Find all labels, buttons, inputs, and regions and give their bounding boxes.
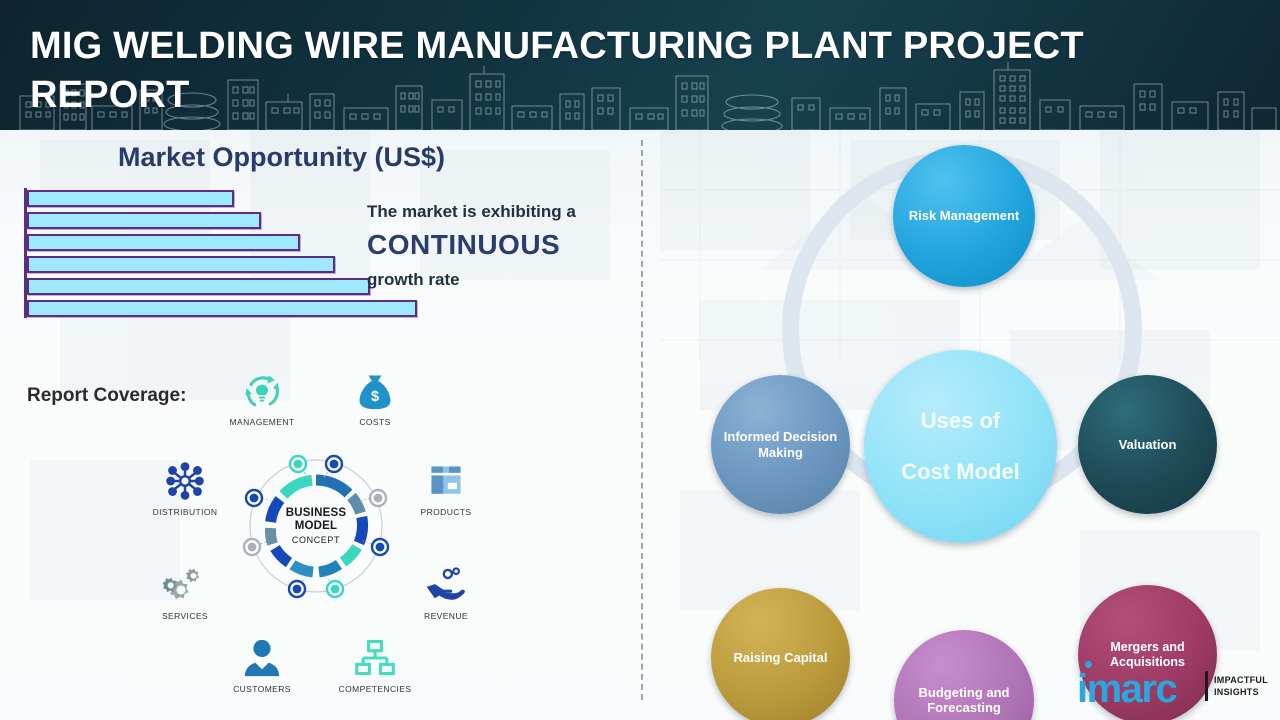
node-label-risk-management: Risk Management <box>903 208 1026 223</box>
chart-bar-3 <box>27 234 300 251</box>
coverage-item-costs: $ COSTS <box>323 368 427 427</box>
market-opportunity-title: Market Opportunity (US$) <box>118 142 445 173</box>
page-title: MIG Welding Wire Manufacturing Plant Pro… <box>30 22 1190 119</box>
recycle-lightbulb-icon <box>210 368 314 414</box>
svg-text:$: $ <box>371 389 379 405</box>
network-nodes-icon <box>133 458 237 504</box>
coverage-item-management: MANAGEMENT <box>210 368 314 427</box>
coverage-label-competencies: COMPETENCIES <box>323 684 427 694</box>
coverage-label-management: MANAGEMENT <box>210 417 314 427</box>
gears-icon <box>133 562 237 608</box>
logo-wordmark: imarc <box>1077 669 1176 709</box>
center-label-line1: Uses of <box>895 408 1026 434</box>
node-risk-management[interactable]: Risk Management <box>893 145 1035 287</box>
coverage-label-costs: COSTS <box>323 417 427 427</box>
left-panel: Market Opportunity (US$) The market is e… <box>0 130 641 720</box>
coverage-label-products: PRODUCTS <box>394 507 498 517</box>
money-bag-icon: $ <box>323 368 427 414</box>
coverage-item-distribution: DISTRIBUTION <box>133 458 237 517</box>
chart-bar-2 <box>27 212 261 229</box>
logo-tagline-line2: INSIGHTS <box>1214 687 1259 697</box>
coverage-item-products: PRODUCTS <box>394 458 498 517</box>
coverage-item-customers: CUSTOMERS <box>210 635 314 694</box>
slide-canvas: MIG Welding Wire Manufacturing Plant Pro… <box>0 0 1280 720</box>
node-label-raising-capital: Raising Capital <box>728 650 834 665</box>
report-coverage-label: Report Coverage: <box>27 385 186 407</box>
node-label-valuation: Valuation <box>1113 437 1183 452</box>
imarc-logo[interactable]: imarc IMPACTFUL INSIGHTS <box>1077 661 1273 709</box>
coverage-item-services: SERVICES <box>133 562 237 621</box>
right-panel: Uses of Cost Model Risk Management Valua… <box>641 130 1280 720</box>
person-user-icon <box>210 635 314 681</box>
node-label-budgeting-and-forecasting: Budgeting and Forecasting <box>894 685 1034 716</box>
growth-blurb: The market is exhibiting a CONTINUOUS gr… <box>367 202 637 291</box>
coverage-label-services: SERVICES <box>133 611 237 621</box>
org-chart-icon <box>323 635 427 681</box>
logo-tagline: IMPACTFUL INSIGHTS <box>1214 674 1268 698</box>
node-label-informed-decision-making: Informed Decision Making <box>711 429 850 460</box>
hand-coins-icon <box>394 562 498 608</box>
node-valuation[interactable]: Valuation <box>1078 375 1217 514</box>
chart-bar-5 <box>27 278 370 295</box>
box-package-icon <box>394 458 498 504</box>
chart-bar-4 <box>27 256 335 273</box>
chart-bar-6 <box>27 300 417 317</box>
chart-bar-1 <box>27 190 234 207</box>
node-informed-decision-making[interactable]: Informed Decision Making <box>711 375 850 514</box>
business-model-wheel: BUSINESS MODEL CONCEPT <box>240 450 392 602</box>
coverage-label-distribution: DISTRIBUTION <box>133 507 237 517</box>
logo-divider-bar <box>1205 671 1208 701</box>
node-uses-of-cost-model[interactable]: Uses of Cost Model <box>864 350 1057 543</box>
coverage-item-revenue: REVENUE <box>394 562 498 621</box>
coverage-label-customers: CUSTOMERS <box>210 684 314 694</box>
chart-y-axis <box>24 188 27 318</box>
slide-header: MIG Welding Wire Manufacturing Plant Pro… <box>0 0 1280 130</box>
growth-blurb-line1: The market is exhibiting a <box>367 202 637 222</box>
market-opportunity-chart <box>24 188 414 318</box>
coverage-label-revenue: REVENUE <box>394 611 498 621</box>
coverage-item-competencies: COMPETENCIES <box>323 635 427 694</box>
center-label-line2: Cost Model <box>895 459 1026 485</box>
growth-blurb-line3: growth rate <box>367 270 637 290</box>
growth-blurb-emphasis: CONTINUOUS <box>367 230 637 261</box>
logo-tagline-line1: IMPACTFUL <box>1214 675 1268 685</box>
node-raising-capital[interactable]: Raising Capital <box>711 588 850 720</box>
node-budgeting-and-forecasting[interactable]: Budgeting and Forecasting <box>894 630 1034 720</box>
